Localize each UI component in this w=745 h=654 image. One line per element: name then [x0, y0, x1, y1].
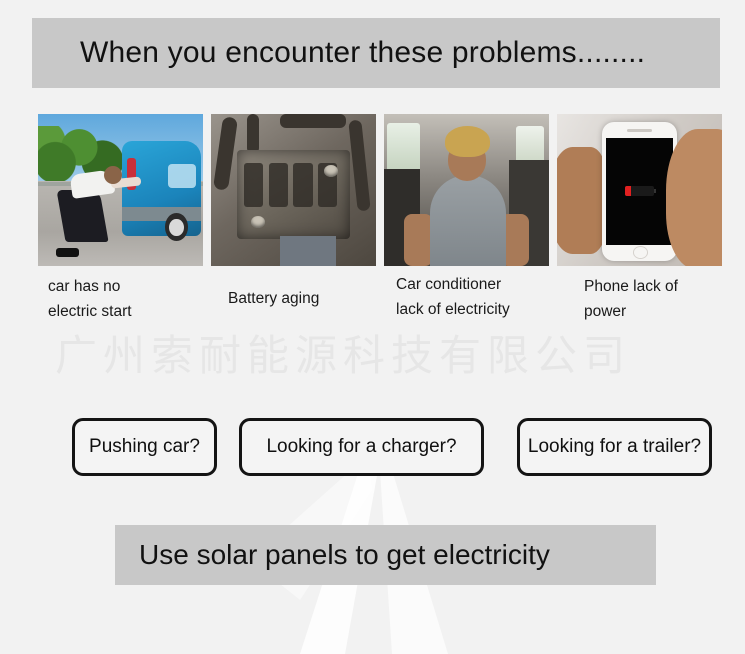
metal-plate	[280, 236, 336, 266]
engine-hose	[280, 114, 346, 128]
battery-cell	[293, 163, 312, 207]
problem-photo-row	[38, 114, 722, 266]
photo-man-pushing-car	[38, 114, 203, 266]
car-window	[168, 164, 197, 189]
phone-screen	[606, 138, 673, 244]
footer-banner: Use solar panels to get electricity	[115, 525, 656, 585]
question-button-looking-for-charger[interactable]: Looking for a charger?	[239, 418, 484, 476]
man-hair	[445, 126, 490, 156]
phone-speaker	[627, 129, 651, 132]
hand-palm	[666, 129, 722, 266]
man-tshirt	[430, 175, 506, 266]
battery-cell	[244, 163, 263, 207]
question-button-looking-for-trailer[interactable]: Looking for a trailer?	[517, 418, 712, 476]
page-title: When you encounter these problems.......…	[80, 36, 645, 70]
man-legs	[57, 190, 109, 242]
battery-red-level	[625, 186, 631, 196]
battery-cell	[269, 163, 288, 207]
photo-phone-low-battery	[557, 114, 722, 266]
car-bumper	[122, 207, 201, 220]
man-shoe	[56, 248, 79, 257]
man-head	[104, 166, 122, 184]
hand-fingers	[557, 147, 607, 253]
phone-home-button	[633, 246, 649, 259]
battery-terminal	[324, 165, 339, 177]
photo-car-battery	[211, 114, 376, 266]
question-button-row: Pushing car? Looking for a charger? Look…	[72, 418, 712, 478]
problem-caption: Car conditioner lack of electricity	[396, 272, 571, 322]
battery-terminal	[251, 216, 266, 228]
header-banner: When you encounter these problems.......…	[32, 18, 720, 88]
blue-car	[122, 141, 201, 235]
low-battery-icon	[625, 186, 654, 196]
problem-caption: car has no electric start	[48, 274, 208, 324]
problem-caption-row: car has no electric start Battery aging …	[38, 272, 728, 332]
problem-caption: Battery aging	[228, 286, 388, 311]
photo-man-in-hot-car	[384, 114, 549, 266]
problem-caption: Phone lack of power	[584, 274, 744, 324]
question-button-pushing-car[interactable]: Pushing car?	[72, 418, 217, 476]
man-arm-left	[404, 214, 434, 266]
battery-cap	[654, 189, 655, 193]
engine-hose	[247, 114, 259, 154]
aging-battery	[237, 150, 349, 238]
footer-title: Use solar panels to get electricity	[139, 539, 550, 571]
